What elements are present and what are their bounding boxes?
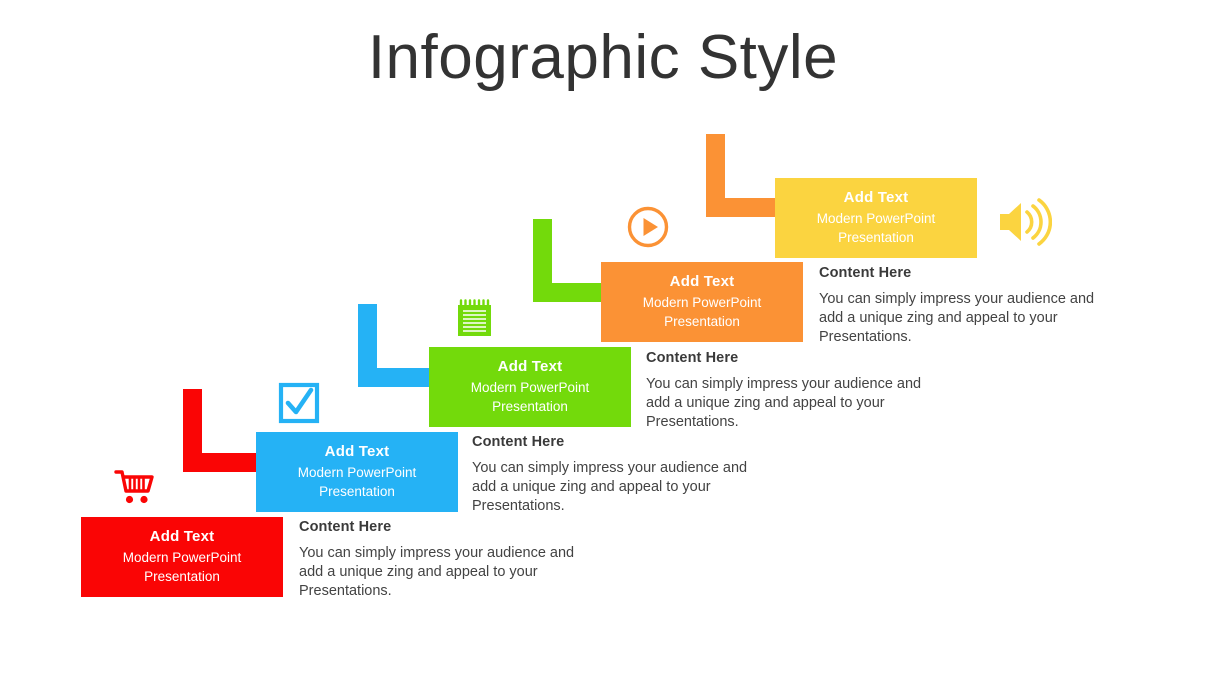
step-5-subline-1: Modern PowerPoint (817, 209, 936, 229)
arrow-bar (183, 453, 267, 472)
step-3-content: Content Here You can simply impress your… (646, 350, 946, 432)
step-2-box[interactable]: Add Text Modern PowerPoint Presentation (256, 432, 458, 512)
step-2-heading: Add Text (325, 442, 390, 462)
checkbox-check-icon (277, 381, 321, 425)
step-2-content-title: Content Here (472, 434, 772, 450)
step-3-content-body: You can simply impress your audience and… (646, 375, 946, 432)
step-5-box[interactable]: Add Text Modern PowerPoint Presentation (775, 178, 977, 258)
step-3-box[interactable]: Add Text Modern PowerPoint Presentation (429, 347, 631, 427)
step-5-heading: Add Text (844, 188, 909, 208)
step-1-content: Content Here You can simply impress your… (299, 519, 599, 601)
step-1-heading: Add Text (150, 527, 215, 547)
step-4-content: Content Here You can simply impress your… (819, 265, 1119, 347)
step-5-subline-2: Presentation (838, 228, 914, 248)
shopping-cart-icon (113, 466, 157, 510)
step-4-content-body: You can simply impress your audience and… (819, 290, 1119, 347)
step-4-box[interactable]: Add Text Modern PowerPoint Presentation (601, 262, 803, 342)
step-2-subline-1: Modern PowerPoint (298, 463, 417, 483)
arrow-stem (706, 134, 725, 198)
step-1-subline-1: Modern PowerPoint (123, 548, 242, 568)
step-4-subline-1: Modern PowerPoint (643, 293, 762, 313)
step-4-subline-2: Presentation (664, 312, 740, 332)
speaker-volume-icon (996, 196, 1052, 248)
page-title: Infographic Style (0, 24, 1206, 92)
step-3-subline-2: Presentation (492, 397, 568, 417)
slide-canvas: Infographic Style Add Text Modern PowerP… (0, 0, 1206, 677)
step-2-content: Content Here You can simply impress your… (472, 434, 772, 516)
step-1-content-title: Content Here (299, 519, 599, 535)
step-3-heading: Add Text (498, 357, 563, 377)
notepad-icon (452, 296, 496, 340)
step-3-subline-1: Modern PowerPoint (471, 378, 590, 398)
step-4-content-title: Content Here (819, 265, 1119, 281)
play-circle-icon (626, 205, 670, 249)
step-1-content-body: You can simply impress your audience and… (299, 544, 599, 601)
step-2-subline-2: Presentation (319, 482, 395, 502)
arrow-stem (183, 389, 202, 453)
arrow-stem (358, 304, 377, 368)
step-1-box[interactable]: Add Text Modern PowerPoint Presentation (81, 517, 283, 597)
step-4-heading: Add Text (670, 272, 735, 292)
step-2-content-body: You can simply impress your audience and… (472, 459, 772, 516)
arrow-stem (533, 219, 552, 283)
step-1-subline-2: Presentation (144, 567, 220, 587)
step-3-content-title: Content Here (646, 350, 946, 366)
